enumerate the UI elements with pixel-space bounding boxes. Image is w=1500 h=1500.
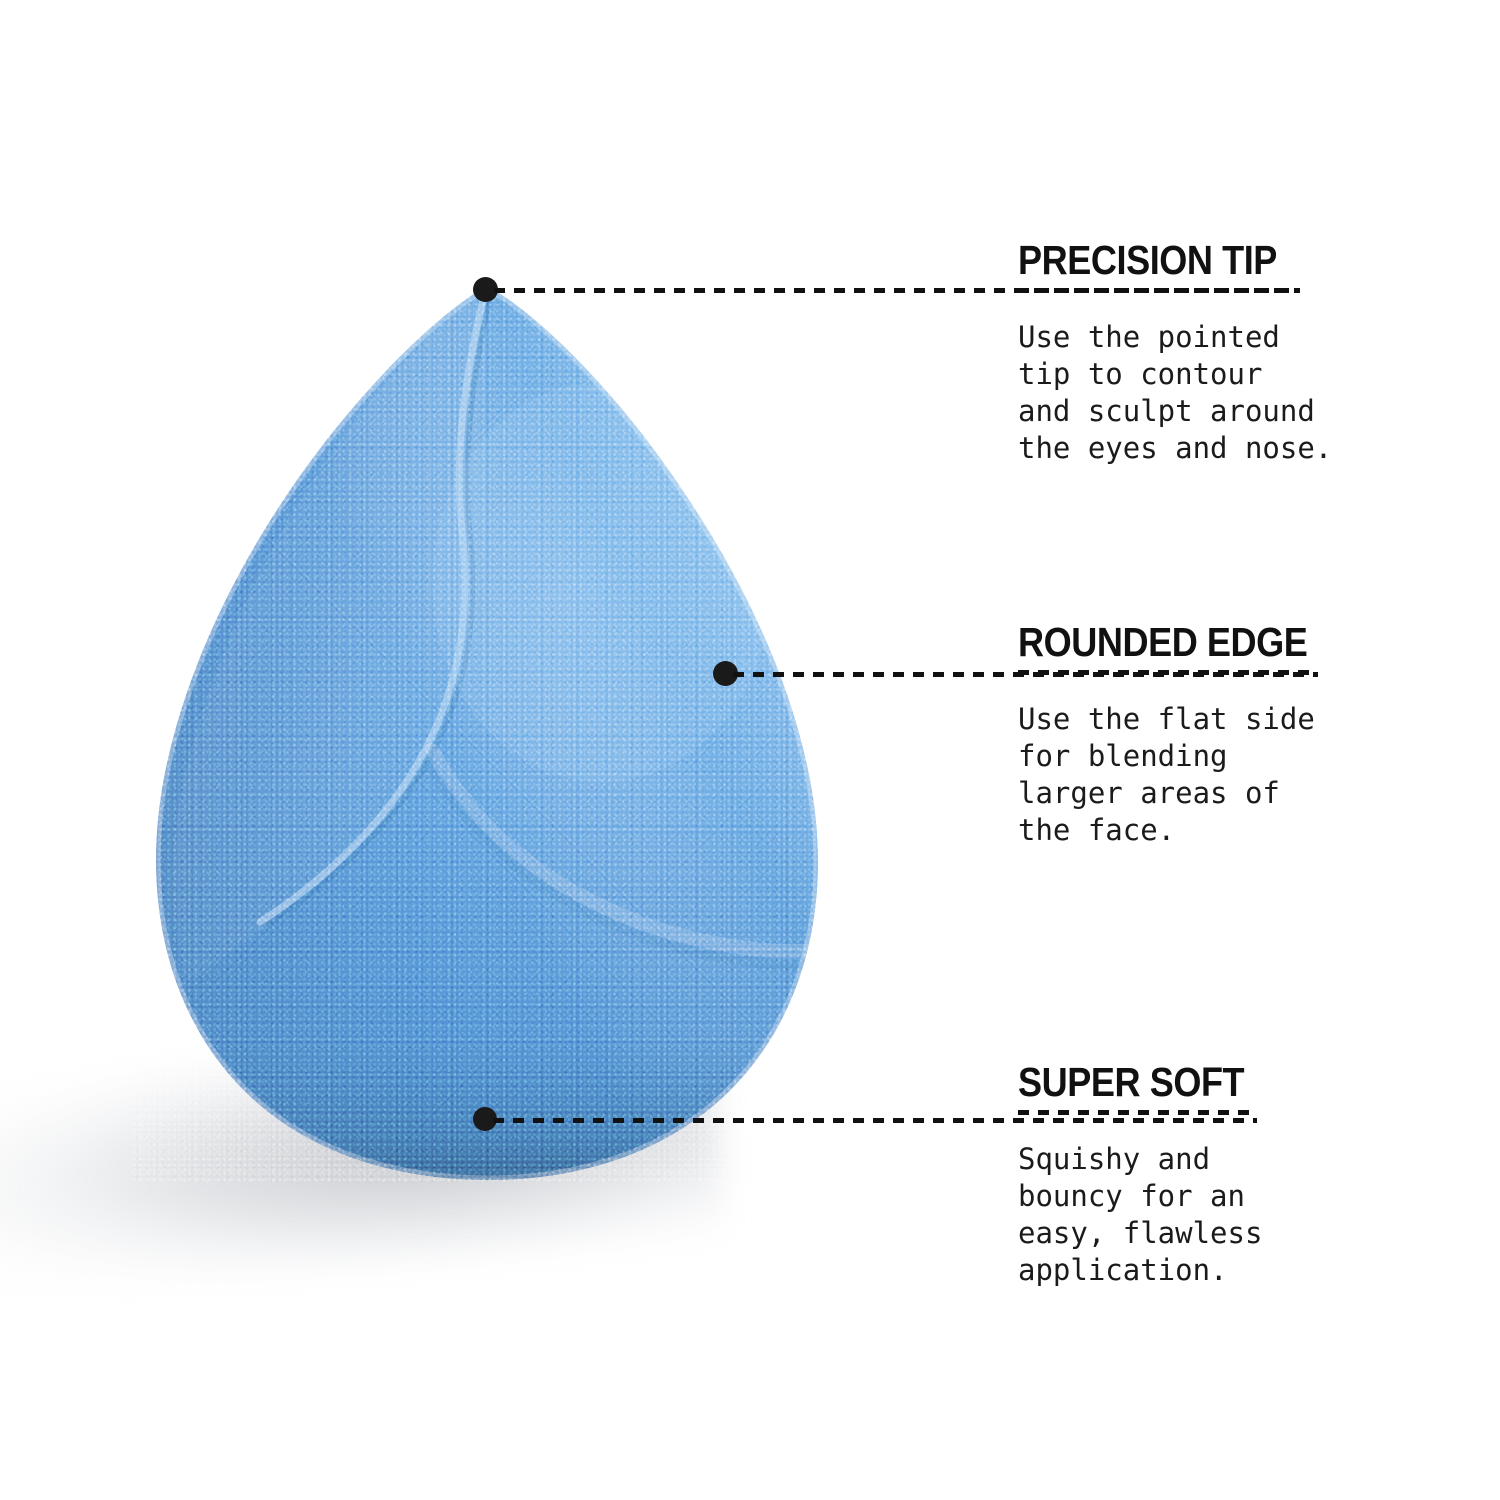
callout-title-rounded-edge: ROUNDED EDGE bbox=[1018, 620, 1388, 664]
callout-body-precision-tip: Use the pointed tip to contour and sculp… bbox=[1018, 319, 1438, 467]
callout-precision-tip: PRECISION TIP Use the pointed tip to con… bbox=[1018, 238, 1438, 467]
sponge-body bbox=[132, 282, 844, 1182]
makeup-sponge-image bbox=[132, 282, 844, 1182]
callout-title-precision-tip: PRECISION TIP bbox=[1018, 238, 1388, 282]
callout-underline-precision-tip bbox=[1018, 288, 1300, 293]
sponge-vector bbox=[132, 282, 844, 1182]
callout-body-rounded-edge: Use the flat side for blending larger ar… bbox=[1018, 701, 1438, 849]
callout-underline-rounded-edge bbox=[1018, 670, 1318, 675]
infographic-canvas: PRECISION TIP Use the pointed tip to con… bbox=[0, 0, 1500, 1500]
callout-super-soft: SUPER SOFT Squishy and bouncy for an eas… bbox=[1018, 1060, 1438, 1289]
callout-rounded-edge: ROUNDED EDGE Use the flat side for blend… bbox=[1018, 620, 1438, 849]
callout-underline-super-soft bbox=[1018, 1110, 1258, 1115]
sponge-specular bbox=[432, 382, 772, 782]
callout-body-super-soft: Squishy and bouncy for an easy, flawless… bbox=[1018, 1141, 1438, 1289]
callout-title-super-soft: SUPER SOFT bbox=[1018, 1060, 1388, 1104]
product-photo bbox=[0, 0, 940, 1330]
